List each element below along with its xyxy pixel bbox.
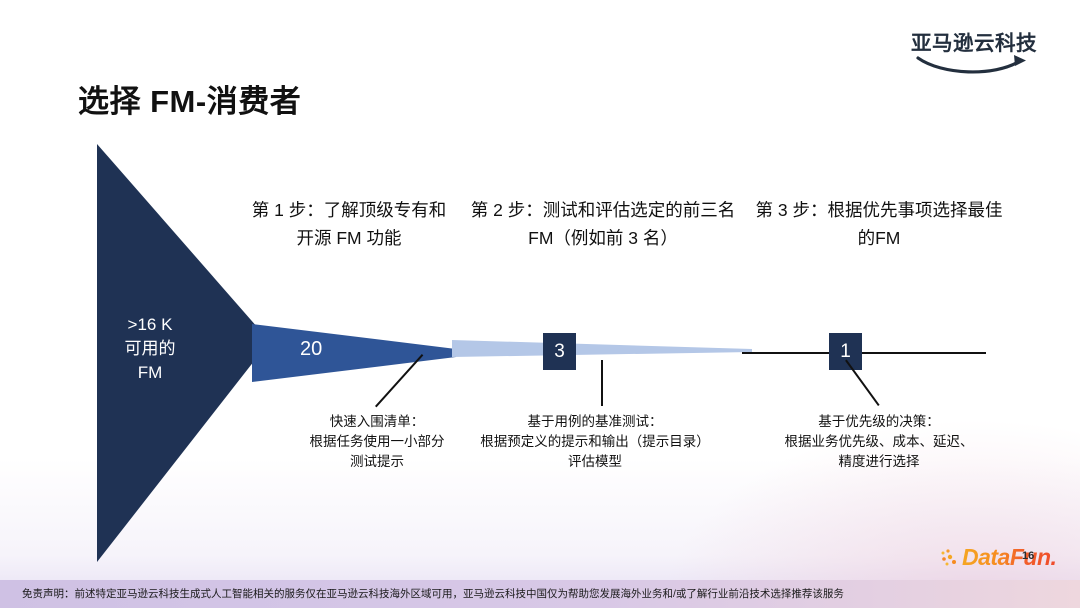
annotation-3-line-2: 根据业务优先级、成本、延迟、 bbox=[752, 432, 1006, 452]
funnel-stage3-value: 1 bbox=[840, 342, 851, 361]
annotation-2-line-1: 基于用例的基准测试： bbox=[450, 412, 740, 432]
annotation-3-line-3: 精度进行选择 bbox=[752, 452, 1006, 472]
funnel-stage1-band bbox=[252, 322, 456, 384]
amazon-smile-arrow-icon bbox=[916, 54, 1034, 76]
annotation-3: 基于优先级的决策： 根据业务优先级、成本、延迟、 精度进行选择 bbox=[752, 412, 1006, 472]
disclaimer-text: 免责声明：前述特定亚马逊云科技生成式人工智能相关的服务仅在亚马逊云科技海外区域可… bbox=[22, 580, 844, 608]
slide-canvas: 亚马逊云科技 选择 FM-消费者 >16 K 可用的 FM 20 3 1 第 1… bbox=[0, 0, 1080, 608]
funnel-stage3-value-box: 1 bbox=[829, 333, 862, 370]
annotation-3-line-1: 基于优先级的决策： bbox=[752, 412, 1006, 432]
leader-line-2 bbox=[601, 360, 603, 406]
funnel-stage1-value: 20 bbox=[300, 338, 322, 361]
datafun-dots-icon bbox=[940, 548, 962, 568]
leader-line-3 bbox=[845, 360, 879, 406]
funnel-stage0-line-1: >16 K bbox=[96, 313, 204, 337]
funnel-stage0-line-2: 可用的 bbox=[96, 337, 204, 361]
page-number: 16 bbox=[1022, 550, 1034, 562]
datafun-watermark: DataFun. bbox=[940, 544, 1060, 574]
annotation-2-line-3: 评估模型 bbox=[450, 452, 740, 472]
funnel-stage2-value: 3 bbox=[554, 342, 565, 361]
annotation-2-line-2: 根据预定义的提示和输出（提示目录） bbox=[450, 432, 740, 452]
funnel-stage0-line-3: FM bbox=[96, 361, 204, 385]
aws-china-logo: 亚马逊云科技 bbox=[894, 32, 1054, 78]
annotation-2: 基于用例的基准测试： 根据预定义的提示和输出（提示目录） 评估模型 bbox=[450, 412, 740, 472]
aws-china-logo-text: 亚马逊云科技 bbox=[894, 32, 1054, 56]
step-heading-2: 第 2 步：测试和评估选定的前三名 FM（例如前 3 名） bbox=[462, 196, 744, 252]
step-heading-3: 第 3 步：根据优先事项选择最佳的FM bbox=[752, 196, 1006, 252]
funnel-stage3-line bbox=[742, 352, 986, 354]
funnel-stage0-label: >16 K 可用的 FM bbox=[96, 313, 204, 385]
datafun-logo-text: DataFun. bbox=[962, 544, 1056, 571]
funnel-stage2-value-box: 3 bbox=[543, 333, 576, 370]
page-title: 选择 FM-消费者 bbox=[78, 76, 301, 121]
step-heading-1: 第 1 步：了解顶级专有和开源 FM 功能 bbox=[244, 196, 454, 252]
funnel-stage2-band bbox=[452, 338, 752, 360]
disclaimer-bar: 免责声明：前述特定亚马逊云科技生成式人工智能相关的服务仅在亚马逊云科技海外区域可… bbox=[0, 580, 1080, 608]
